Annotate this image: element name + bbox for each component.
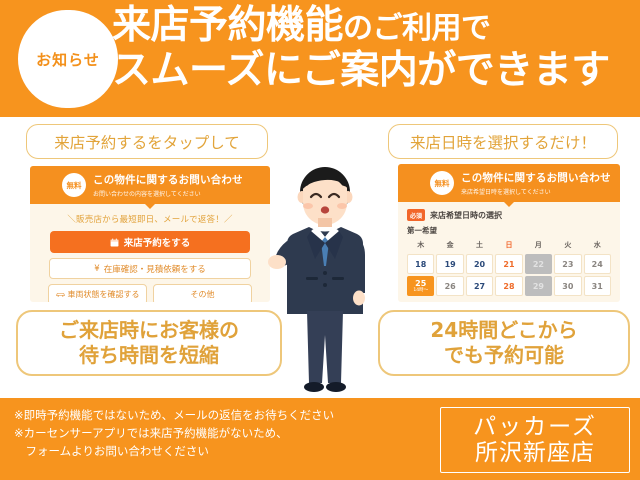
weekday-cell: 日 [495, 240, 522, 252]
weekday-cell: 金 [436, 240, 463, 252]
promo-banner: お知らせ 来店予約機能のご利用で スムーズにご案内ができます 来店予約するをタッ… [0, 0, 640, 480]
notice-badge-label: お知らせ [36, 49, 100, 70]
calendar-day-cell[interactable]: 28 [495, 276, 522, 296]
weekday-cell: 木 [407, 240, 434, 252]
mail-reply-note: ＼販売店から最短即日、メールで返答！／ [30, 213, 270, 225]
mock-calendar-panel: 無料 この物件に関するお問い合わせ 来店希望日時を選択してください 必須 来店希… [398, 164, 620, 302]
day-number: 26 [445, 282, 456, 291]
footer-note-1: ※即時予約機能ではないため、メールの返信をお待ちください [14, 407, 424, 425]
caption-bottom-right-line-1: 24時間どこから [430, 318, 577, 343]
day-number: 18 [415, 260, 426, 269]
free-badge-icon-right: 無料 [430, 171, 454, 195]
caret-down-icon-right [504, 202, 514, 207]
caption-bottom-right: 24時間どこから でも予約可能 [378, 310, 630, 376]
day-number: 21 [503, 260, 514, 269]
calendar-weekday-row: 木 金 土 日 月 火 水 [407, 240, 611, 252]
calendar-day-cell-disabled: 22 [525, 254, 552, 274]
caption-top-left: 来店予約するをタップして [26, 124, 268, 159]
calendar-week-row: 18 19 20 21 22 23 24 [407, 254, 611, 274]
caption-top-right: 来店日時を選択するだけ！ [388, 124, 618, 159]
day-number: 20 [474, 260, 485, 269]
vehicle-condition-label: 車両状態を確認する [68, 289, 140, 300]
weekday-cell: 月 [525, 240, 552, 252]
banner-body: 来店予約するをタップして 来店日時を選択するだけ！ 無料 この物件に関するお問い… [0, 117, 640, 398]
headline-line-2: スムーズにご案内ができます [112, 51, 634, 92]
stock-estimate-label: 在庫確認・見積依頼をする [104, 263, 206, 275]
calendar-widget[interactable]: 木 金 土 日 月 火 水 18 19 20 21 22 23 24 [407, 240, 611, 296]
preference-label: 第一希望 [407, 225, 620, 236]
calendar-day-cell[interactable]: 20 [466, 254, 493, 274]
mock-right-header-text: この物件に関するお問い合わせ 来店希望日時を選択してください [461, 170, 611, 196]
calendar-day-cell[interactable]: 31 [584, 276, 611, 296]
calendar-day-cell-selected[interactable]: 25 14時～ [407, 276, 434, 296]
calendar-day-cell[interactable]: 19 [436, 254, 463, 274]
day-number: 29 [533, 282, 544, 291]
headline-line-1-main: 来店予約機能 [112, 3, 343, 48]
banner-header: お知らせ 来店予約機能のご利用で スムーズにご案内ができます [0, 0, 640, 117]
shop-name-line-2: 所沢新座店 [475, 440, 595, 466]
calendar-day-cell-disabled: 29 [525, 276, 552, 296]
required-field-label: 来店希望日時の選択 [430, 210, 502, 221]
calendar-icon [110, 238, 119, 247]
day-number: 27 [474, 282, 485, 291]
mock-left-header-text: この物件に関するお問い合わせ お問い合わせの内容を選択してください [93, 172, 243, 198]
footer-notes: ※即時予約機能ではないため、メールの返信をお待ちください ※カーセンサーアプリで… [14, 407, 424, 460]
headline-line-1-tail: のご利用で [343, 11, 491, 46]
day-number: 25 [415, 279, 426, 288]
mock-right-header: 無料 この物件に関するお問い合わせ 来店希望日時を選択してください [398, 164, 620, 202]
caret-down-icon [145, 204, 155, 209]
weekday-cell: 火 [554, 240, 581, 252]
free-badge-icon: 無料 [62, 173, 86, 197]
footer-note-3: フォームよりお問い合わせください [14, 443, 424, 461]
caption-bottom-left-line-2: 待ち時間を短縮 [59, 343, 239, 368]
calendar-day-cell[interactable]: 27 [466, 276, 493, 296]
day-slot-label: 14時～ [413, 289, 428, 294]
free-badge-label-right: 無料 [435, 178, 450, 189]
notice-badge: お知らせ [18, 10, 118, 108]
weekday-cell: 水 [584, 240, 611, 252]
caption-bottom-left: ご来店時にお客様の 待ち時間を短縮 [16, 310, 282, 376]
day-number: 30 [562, 282, 573, 291]
header-headline: 来店予約機能のご利用で スムーズにご案内ができます [112, 6, 634, 92]
mock-right-title: この物件に関するお問い合わせ [461, 170, 611, 185]
banner-footer: ※即時予約機能ではないため、メールの返信をお待ちください ※カーセンサーアプリで… [0, 398, 640, 480]
other-button[interactable]: その他 [153, 284, 252, 302]
yen-icon: ¥ [94, 264, 99, 274]
mock-right-subtitle: 来店希望日時を選択してください [461, 187, 611, 196]
caption-bottom-right-line-2: でも予約可能 [430, 343, 577, 368]
calendar-week-row: 25 14時～ 26 27 28 29 30 31 [407, 276, 611, 296]
day-number: 19 [445, 260, 456, 269]
vehicle-condition-button[interactable]: 車両状態を確認する [48, 284, 147, 302]
salesman-illustration [265, 165, 385, 405]
reserve-visit-label: 来店予約をする [124, 235, 191, 249]
mock-inquiry-panel: 無料 この物件に関するお問い合わせ お問い合わせの内容を選択してください ＼販売… [30, 166, 270, 302]
calendar-day-cell[interactable]: 23 [554, 254, 581, 274]
mock-left-header: 無料 この物件に関するお問い合わせ お問い合わせの内容を選択してください [30, 166, 270, 204]
reserve-visit-button[interactable]: 来店予約をする [50, 231, 250, 253]
calendar-day-cell[interactable]: 24 [584, 254, 611, 274]
day-number: 22 [533, 260, 544, 269]
required-badge: 必須 [407, 209, 425, 221]
free-badge-label: 無料 [67, 180, 82, 191]
car-icon [56, 291, 65, 298]
required-field-row: 必須 来店希望日時の選択 [407, 209, 620, 221]
calendar-day-cell[interactable]: 18 [407, 254, 434, 274]
stock-estimate-button[interactable]: ¥ 在庫確認・見積依頼をする [49, 258, 251, 279]
headline-line-1: 来店予約機能のご利用で [112, 6, 634, 47]
mock-left-subtitle: お問い合わせの内容を選択してください [93, 189, 243, 198]
secondary-button-row: 車両状態を確認する その他 [30, 284, 270, 302]
footer-note-2: ※カーセンサーアプリでは来店予約機能がないため、 [14, 425, 424, 443]
caption-bottom-left-line-1: ご来店時にお客様の [59, 318, 239, 343]
day-number: 28 [503, 282, 514, 291]
other-label: その他 [191, 289, 215, 300]
calendar-day-cell[interactable]: 30 [554, 276, 581, 296]
shop-name-line-1: パッカーズ [473, 414, 597, 440]
weekday-cell: 土 [466, 240, 493, 252]
day-number: 23 [562, 260, 573, 269]
calendar-day-cell[interactable]: 21 [495, 254, 522, 274]
calendar-day-cell[interactable]: 26 [436, 276, 463, 296]
shop-name-box: パッカーズ 所沢新座店 [440, 407, 630, 473]
day-number: 31 [592, 282, 603, 291]
mock-left-title: この物件に関するお問い合わせ [93, 172, 243, 187]
day-number: 24 [592, 260, 603, 269]
